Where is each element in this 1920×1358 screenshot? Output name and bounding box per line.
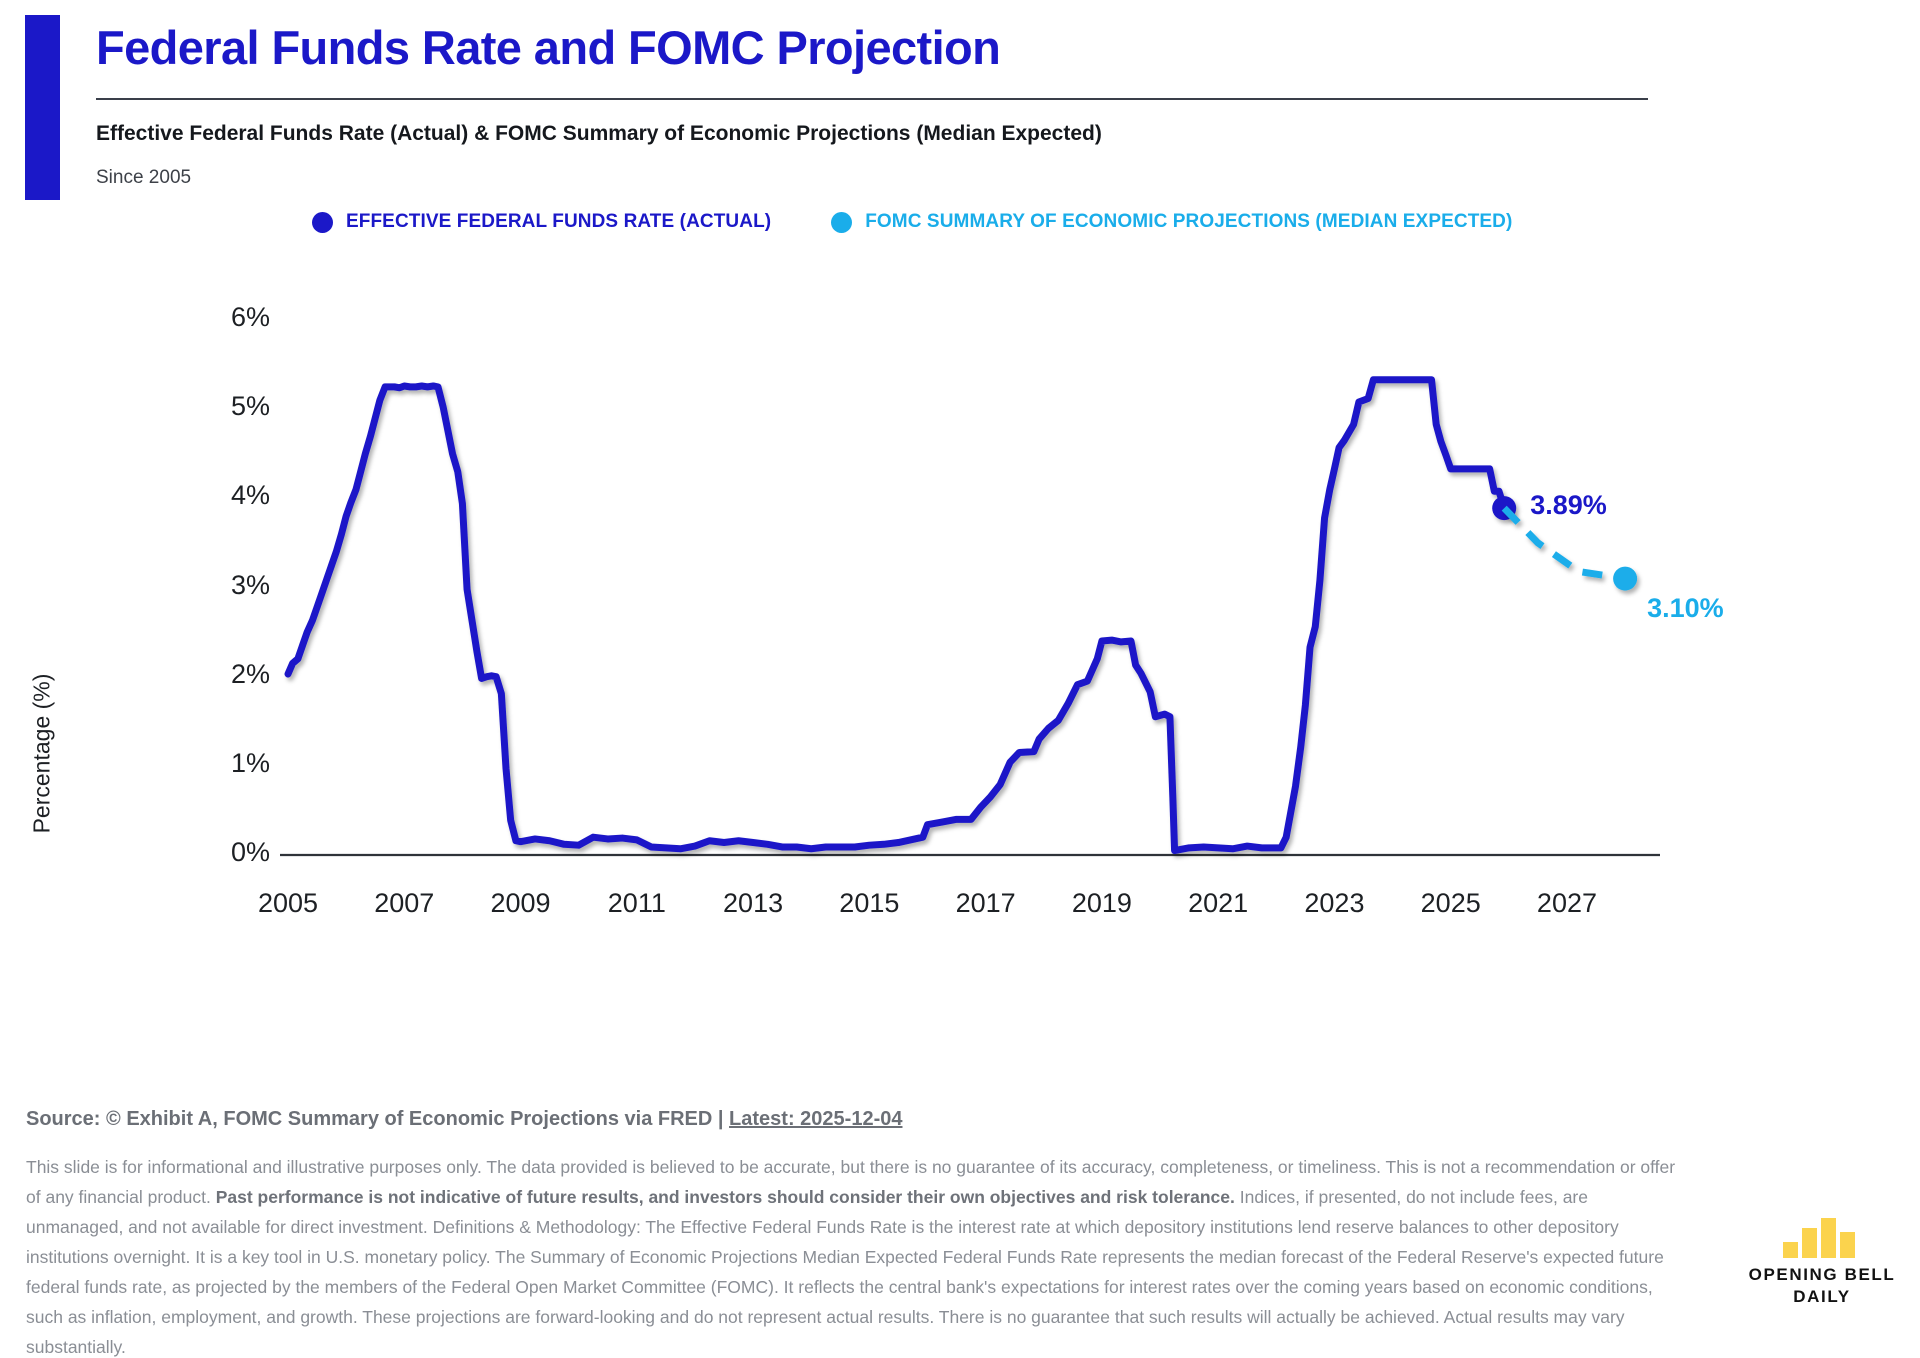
source-text: Source: © Exhibit A, FOMC Summary of Eco… <box>26 1108 729 1130</box>
chart-container: Percentage (%) 0%1%2%3%4%5%6% 2005200720… <box>0 300 1920 980</box>
source-latest[interactable]: Latest: 2025-12-04 <box>729 1108 902 1130</box>
disclaimer-part-2: Indices, if presented, do not include fe… <box>26 1187 1664 1357</box>
logo-bar-1 <box>1802 1228 1817 1258</box>
accent-bar <box>25 15 60 200</box>
logo-line-1: OPENING BELL <box>1742 1264 1902 1286</box>
actual-value-label: 3.89% <box>1530 490 1607 521</box>
chart-legend: EFFECTIVE FEDERAL FUNDS RATE (ACTUAL) FO… <box>312 211 1512 233</box>
legend-item-projection: FOMC SUMMARY OF ECONOMIC PROJECTIONS (ME… <box>831 211 1512 233</box>
logo-bar-3 <box>1840 1232 1855 1258</box>
page-subtitle: Effective Federal Funds Rate (Actual) & … <box>96 122 1102 146</box>
logo-bar-2 <box>1821 1218 1836 1258</box>
brand-logo: OPENING BELL DAILY <box>1742 1218 1902 1318</box>
title-divider <box>96 98 1648 100</box>
legend-dot-projection <box>831 212 852 233</box>
legend-dot-actual <box>312 212 333 233</box>
logo-bar-0 <box>1783 1242 1798 1258</box>
legend-label-projection: FOMC SUMMARY OF ECONOMIC PROJECTIONS (ME… <box>865 211 1512 233</box>
logo-line-2: DAILY <box>1742 1286 1902 1308</box>
source-line: Source: © Exhibit A, FOMC Summary of Eco… <box>26 1108 902 1131</box>
legend-item-actual: EFFECTIVE FEDERAL FUNDS RATE (ACTUAL) <box>312 211 771 233</box>
series-line-0 <box>288 380 1504 851</box>
slide-root: Federal Funds Rate and FOMC Projection E… <box>0 0 1920 1358</box>
disclaimer-bold: Past performance is not indicative of fu… <box>216 1187 1235 1207</box>
legend-label-actual: EFFECTIVE FEDERAL FUNDS RATE (ACTUAL) <box>346 211 771 233</box>
disclaimer-text: This slide is for informational and illu… <box>26 1152 1686 1358</box>
projection-value-label: 3.10% <box>1647 593 1724 624</box>
page-since-label: Since 2005 <box>96 167 191 189</box>
page-title: Federal Funds Rate and FOMC Projection <box>96 20 1000 75</box>
series-endpoint-marker-1 <box>1613 567 1637 591</box>
logo-bars-icon <box>1783 1218 1861 1258</box>
chart-plot <box>0 300 1920 920</box>
